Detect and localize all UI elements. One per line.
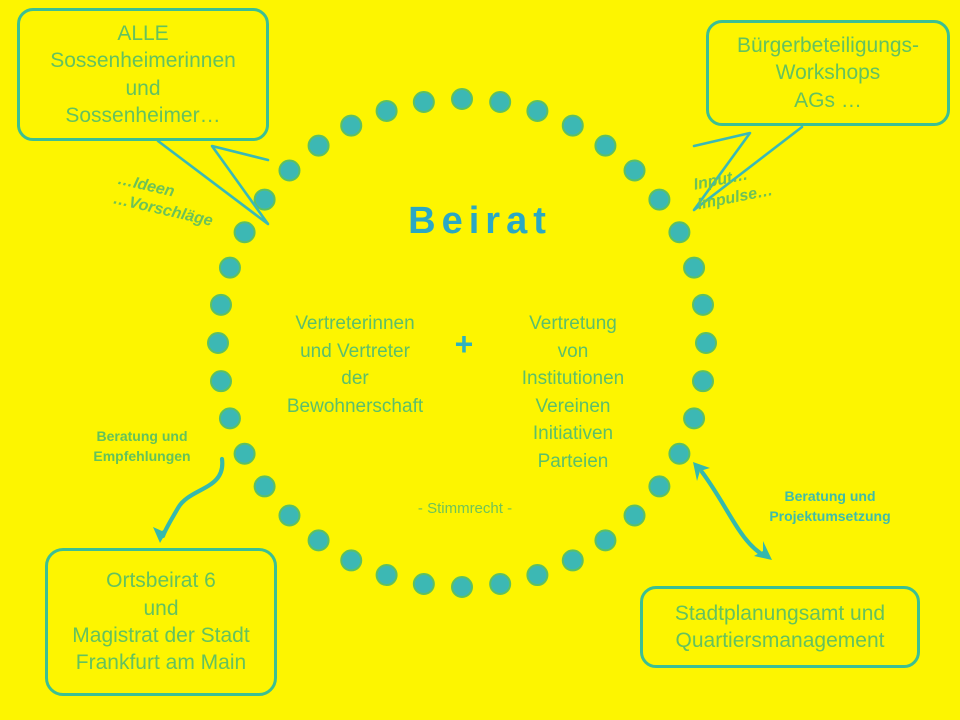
bubble-tail-top-left [96,139,270,168]
ring-dot [649,476,669,496]
diagram-canvas: ALLE Sossenheimerinnen und Sossenheimer…… [0,0,960,720]
ring-dot [377,565,397,585]
caption-advice-recommendations: Beratung und Empfehlungen [62,426,222,467]
ring-dot [563,116,583,136]
ring-dot [220,408,240,428]
column-institutions-representation: Vertretung von Institutionen Vereinen In… [480,310,666,475]
box-city-planning-office-label: Stadtplanungsamt und Quartiersmanagement [675,600,885,655]
ring-dot [669,444,689,464]
ring-dot [309,136,329,156]
arrow-right-head-down-icon [754,541,772,560]
ring-dot [625,160,645,180]
ring-dot [279,506,299,526]
ring-dot [625,506,645,526]
ring-dot [527,565,547,585]
ring-dot [452,89,472,109]
ring-dot [595,136,615,156]
box-city-planning-office[interactable]: Stadtplanungsamt und Quartiersmanagement [640,586,920,668]
ring-dot [693,295,713,315]
plus-icon: + [447,328,481,360]
ring-dot [490,92,510,112]
ring-dot [235,444,255,464]
arrow-right-head-up-icon [693,462,710,481]
ring-dot [490,574,510,594]
ring-dot [220,258,240,278]
ring-dot [563,550,583,570]
bubble-participation-workshops-label: Bürgerbeteiligungs- Workshops AGs … [737,32,919,114]
ring-dot [279,160,299,180]
column-residents-representatives: Vertreterinnen und Vertreter der Bewohne… [262,310,448,420]
ring-dot [693,371,713,391]
voting-rights-note: - Stimmrecht - [340,500,590,517]
arrow-left-head-icon [153,524,171,543]
ring-dot [684,258,704,278]
ring-dot [341,550,361,570]
bubble-all-residents[interactable]: ALLE Sossenheimerinnen und Sossenheimer… [17,8,269,141]
bubble-all-residents-label: ALLE Sossenheimerinnen und Sossenheimer… [50,20,236,129]
bubble-participation-workshops[interactable]: Bürgerbeteiligungs- Workshops AGs … [706,20,950,126]
arrow-left-curve [163,459,222,536]
ring-dot [255,476,275,496]
ring-dot [452,577,472,597]
ring-dot [211,295,231,315]
ring-dot [309,530,329,550]
ring-dot [527,101,547,121]
box-ortsbeirat-magistrat-label: Ortsbeirat 6 und Magistrat der Stadt Fra… [72,567,249,676]
ring-dot [696,333,716,353]
ring-dot [414,92,434,112]
ring-dot [684,408,704,428]
caption-advice-project-implementation: Beratung und Projektumsetzung [740,486,920,527]
ring-dot [208,333,228,353]
page-title: Beirat [0,200,960,243]
box-ortsbeirat-magistrat[interactable]: Ortsbeirat 6 und Magistrat der Stadt Fra… [45,548,277,696]
ring-dot [341,116,361,136]
ring-dot [377,101,397,121]
ring-dot [211,371,231,391]
ring-dot [414,574,434,594]
ring-dot [595,530,615,550]
